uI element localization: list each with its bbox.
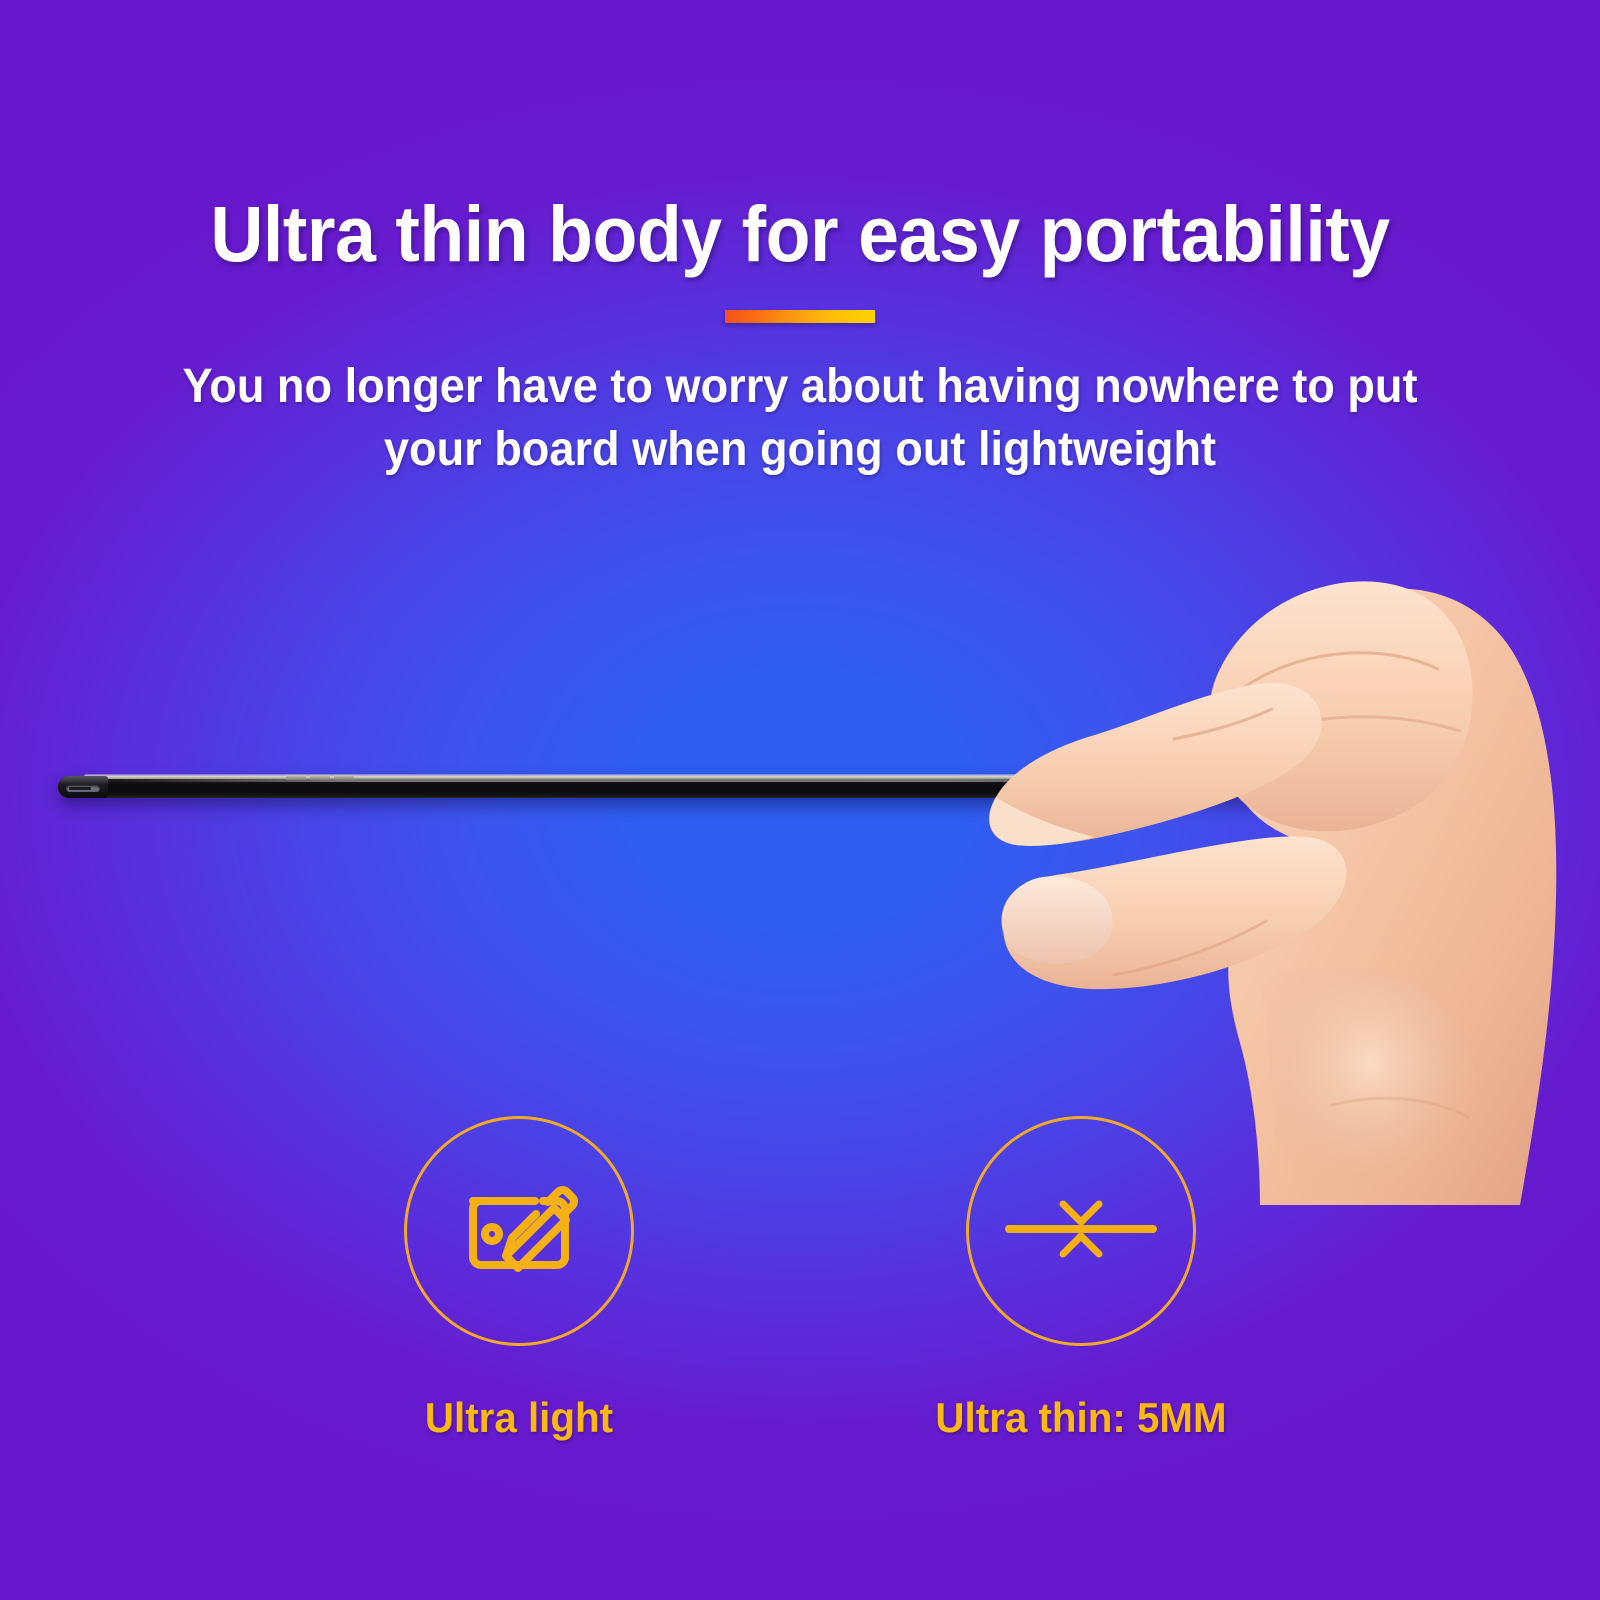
feature-label-ultra-light: Ultra light — [361, 1393, 678, 1443]
subtitle-block: You no longer have to worry about having… — [180, 355, 1421, 481]
tablet-side-button — [334, 775, 354, 780]
feature-ultra-thin: Ultra thin: 5MM — [916, 1116, 1246, 1443]
feature-label-ultra-thin: Ultra thin: 5MM — [923, 1393, 1240, 1443]
hand-pinching-tablet — [960, 545, 1600, 1205]
feature-icon-ring — [966, 1116, 1196, 1346]
subtitle-line-1: You no longer have to worry about having… — [180, 355, 1421, 418]
drawing-tablet-with-stylus-icon — [444, 1154, 594, 1309]
thumbnail — [1002, 876, 1113, 963]
thickness-compress-arrows-icon — [1001, 1154, 1161, 1309]
tablet-side-buttons — [286, 775, 354, 780]
subtitle-line-2: your board when going out lightweight — [180, 418, 1421, 481]
tablet-side-button — [286, 775, 306, 780]
feature-ultra-light: Ultra light — [354, 1116, 684, 1443]
tablet-side-button — [310, 775, 330, 780]
gradient-accent-bar — [725, 310, 875, 323]
feature-badges: Ultra light Ultra thin: 5MM — [0, 1116, 1600, 1443]
product-feature-poster: Ultra thin body for easy portability You… — [0, 0, 1600, 1600]
headline-block: Ultra thin body for easy portability You… — [0, 0, 1600, 481]
usb-port-slot — [69, 787, 91, 790]
page-title: Ultra thin body for easy portability — [56, 188, 1544, 280]
feature-icon-ring — [404, 1116, 634, 1346]
